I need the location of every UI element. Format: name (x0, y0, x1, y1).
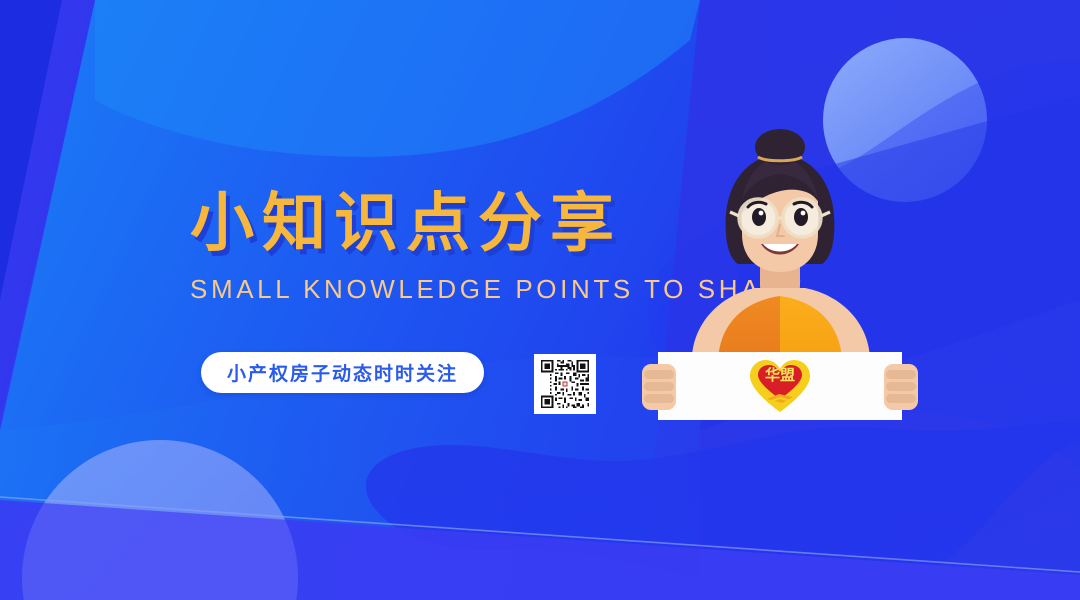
qr-code[interactable] (534, 354, 596, 414)
page-title: 小知识点分享 (190, 188, 660, 260)
logo-text: 华盟 (765, 366, 795, 384)
illustration-woman-holding-sign: 华盟 (630, 130, 930, 440)
qr-code-icon (538, 358, 592, 410)
headline-block: 小知识点分享 SMALL KNOWLEDGE POINTS TO SHARE (190, 188, 660, 305)
promo-banner: 小知识点分享 SMALL KNOWLEDGE POINTS TO SHARE 小… (0, 0, 1080, 600)
page-subtitle: SMALL KNOWLEDGE POINTS TO SHARE (190, 274, 660, 305)
cta-pill-button[interactable]: 小产权房子动态时时关注 (201, 352, 484, 393)
